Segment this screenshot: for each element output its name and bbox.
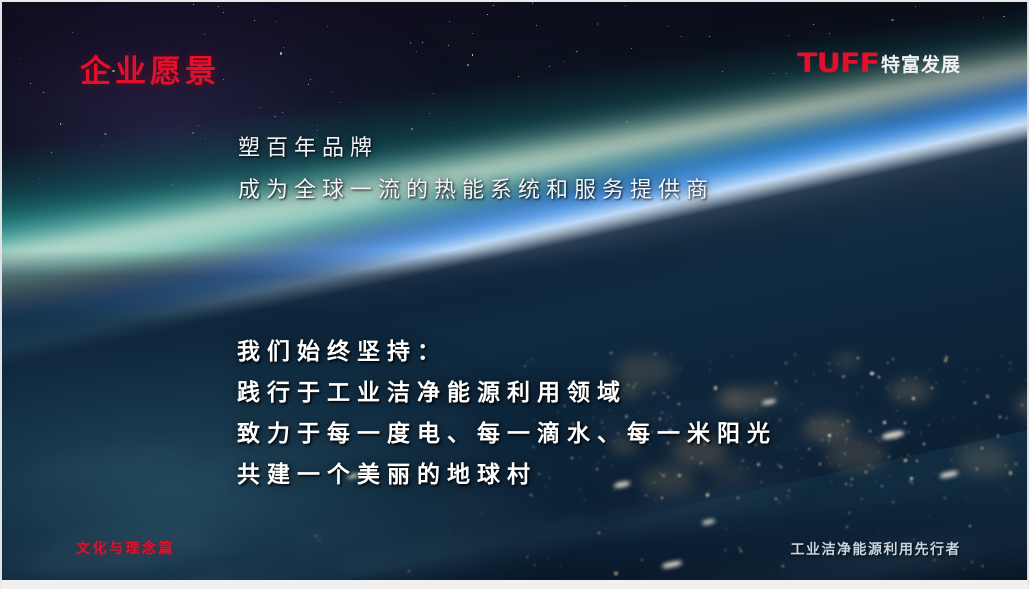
page-title: 企业愿景: [80, 46, 220, 91]
footer-section-label: 文化与理念篇: [76, 538, 175, 558]
commitment-line: 我们始终坚持：: [237, 332, 777, 373]
vision-line: 塑百年品牌: [238, 128, 714, 170]
footer-tagline: 工业洁净能源利用先行者: [791, 539, 962, 559]
vision-line: 成为全球一流的热能系统和服务提供商: [238, 170, 714, 212]
tuff-logo-mark: TUFF: [797, 48, 879, 79]
commitment-line: 践行于工业洁净能源利用领域: [237, 373, 777, 414]
company-logo: TUFF 特富发展: [797, 48, 961, 79]
company-name-chinese: 特富发展: [881, 50, 961, 77]
slide-content: 企业愿景 TUFF 特富发展 塑百年品牌 成为全球一流的热能系统和服务提供商 我…: [2, 2, 1027, 580]
presentation-slide: 企业愿景 TUFF 特富发展 塑百年品牌 成为全球一流的热能系统和服务提供商 我…: [0, 0, 1029, 589]
commitment-line: 致力于每一度电、每一滴水、每一米阳光: [237, 414, 777, 455]
commitment-statement: 我们始终坚持： 践行于工业洁净能源利用领域 致力于每一度电、每一滴水、每一米阳光…: [237, 332, 777, 496]
commitment-line: 共建一个美丽的地球村: [237, 455, 777, 496]
vision-statement: 塑百年品牌 成为全球一流的热能系统和服务提供商: [238, 128, 714, 212]
